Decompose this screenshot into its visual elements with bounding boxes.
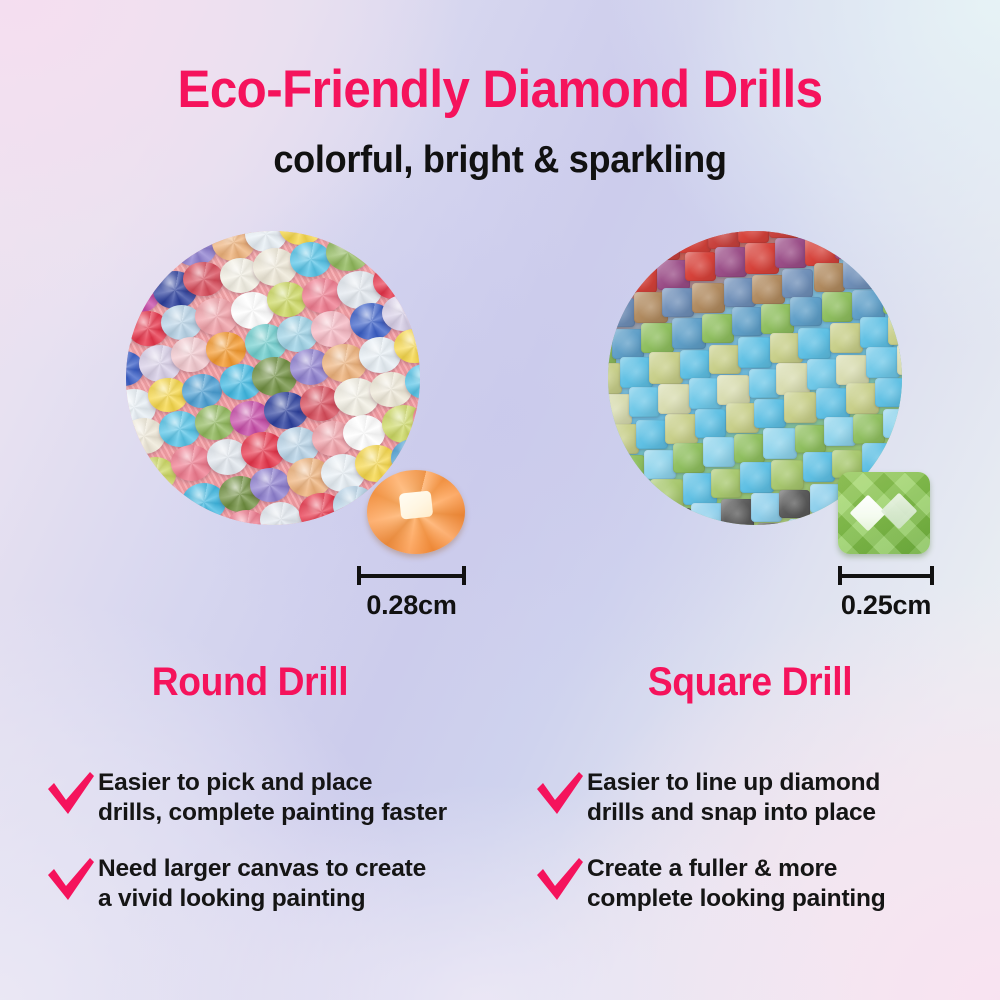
feature-line-1: Easier to line up diamond bbox=[587, 769, 880, 796]
round-drill-gem-icon bbox=[367, 470, 465, 554]
square-drill-gem bbox=[862, 443, 895, 474]
page-title: Eco-Friendly Diamond Drills bbox=[35, 62, 965, 118]
feature-text: Easier to line up diamond drills and sna… bbox=[587, 766, 995, 828]
feature-line-1: Create a fuller & more bbox=[587, 855, 837, 882]
square-drill-gem bbox=[763, 428, 797, 459]
square-drill-gem bbox=[650, 479, 684, 510]
square-drill-gem bbox=[703, 437, 735, 466]
square-drill-heading: Square Drill bbox=[518, 660, 983, 705]
square-drill-gem bbox=[673, 443, 705, 473]
feature-line-2: a vivid looking painting bbox=[98, 884, 522, 914]
round-gem-top-facet bbox=[399, 490, 434, 519]
square-drill-gem bbox=[691, 503, 725, 525]
square-drill-gem bbox=[641, 323, 674, 354]
square-drill-gem bbox=[803, 452, 835, 482]
square-drill-gem bbox=[608, 298, 635, 327]
round-drill-gem bbox=[206, 332, 246, 367]
square-drill-gem bbox=[740, 462, 774, 493]
feature-item: Easier to line up diamond drills and sna… bbox=[533, 766, 995, 828]
measure-line bbox=[838, 574, 934, 578]
square-drill-gem bbox=[798, 231, 829, 232]
square-drill-gem bbox=[665, 414, 698, 444]
square-drill-gem bbox=[752, 275, 784, 305]
round-drill-gem bbox=[195, 405, 235, 439]
square-drill-gem bbox=[784, 392, 817, 422]
round-drill-heading: Round Drill bbox=[18, 660, 483, 705]
square-drill-gem bbox=[625, 263, 657, 293]
square-drill-gem bbox=[795, 425, 826, 454]
square-drill-gem bbox=[852, 290, 885, 321]
square-drill-gem bbox=[897, 344, 902, 374]
square-drill-gem bbox=[628, 514, 662, 525]
check-icon bbox=[44, 770, 98, 818]
round-drill-gem bbox=[250, 468, 290, 503]
page-subtitle: colorful, bright & sparkling bbox=[25, 140, 975, 182]
square-drill-gem bbox=[708, 231, 740, 249]
square-drill-gem bbox=[788, 519, 820, 525]
square-drill-gem bbox=[715, 247, 747, 276]
square-drill-gem bbox=[873, 254, 902, 284]
square-drill-gem bbox=[807, 359, 840, 389]
round-drill-gem bbox=[183, 262, 223, 297]
square-drill-gem bbox=[798, 328, 831, 358]
feature-item: Easier to pick and place drills, complet… bbox=[44, 766, 522, 828]
square-drill-gem bbox=[883, 409, 902, 438]
feature-text: Easier to pick and place drills, complet… bbox=[98, 766, 522, 828]
feature-line-1: Easier to pick and place bbox=[98, 769, 372, 796]
square-drill-gem bbox=[782, 269, 813, 298]
square-drill-gem bbox=[805, 235, 839, 266]
feature-text: Create a fuller & more complete looking … bbox=[587, 852, 995, 914]
square-drill-gem bbox=[761, 304, 794, 334]
square-drill-gem bbox=[644, 450, 676, 479]
square-drill-gem bbox=[836, 355, 869, 386]
round-drill-gem bbox=[311, 311, 353, 347]
round-drill-gem bbox=[302, 278, 343, 313]
check-icon bbox=[44, 856, 98, 904]
square-measure-label: 0.25cm bbox=[836, 590, 936, 621]
square-drill-gem bbox=[853, 414, 886, 444]
square-drill-gem bbox=[875, 378, 902, 408]
round-measure-label: 0.28cm bbox=[355, 590, 468, 621]
check-icon bbox=[533, 856, 587, 904]
square-drill-gem bbox=[662, 288, 694, 317]
square-drill-feature-list: Easier to line up diamond drills and sna… bbox=[533, 766, 995, 939]
square-drill-gem-icon bbox=[838, 472, 930, 554]
square-drill-gem bbox=[822, 292, 854, 321]
measure-cap-right bbox=[462, 566, 466, 585]
round-drill-gem bbox=[135, 457, 176, 493]
square-drill-gem bbox=[702, 314, 733, 343]
square-drill-gem bbox=[620, 357, 653, 387]
infographic-poster: Eco-Friendly Diamond Drills colorful, br… bbox=[0, 0, 1000, 1000]
square-drill-gem bbox=[888, 314, 902, 345]
square-drill-gem bbox=[721, 499, 754, 525]
square-drill-gem bbox=[649, 352, 683, 383]
square-drill-gem bbox=[824, 417, 855, 446]
square-drill-gem bbox=[779, 490, 810, 519]
feature-line-1: Need larger canvas to create bbox=[98, 855, 426, 882]
square-drill-gem bbox=[711, 469, 742, 498]
square-drill-gem bbox=[757, 523, 789, 525]
square-drill-gem bbox=[738, 337, 772, 368]
square-drill-gem bbox=[680, 350, 711, 379]
square-drill-gem bbox=[717, 375, 750, 406]
round-measure-bar-icon bbox=[357, 566, 466, 584]
square-drill-gem bbox=[776, 363, 810, 394]
check-icon bbox=[533, 770, 587, 818]
square-drill-gem bbox=[814, 263, 846, 292]
square-drill-gem bbox=[612, 329, 644, 359]
square-drill-gem bbox=[771, 460, 804, 491]
square-drill-gem bbox=[891, 440, 902, 469]
square-drill-gem bbox=[775, 238, 807, 267]
feature-item: Need larger canvas to create a vivid loo… bbox=[44, 852, 522, 914]
square-drill-measurement: 0.25cm bbox=[838, 566, 936, 621]
round-drill-gem bbox=[290, 242, 331, 277]
square-drill-gem bbox=[754, 399, 786, 428]
round-drill-photo bbox=[126, 231, 420, 525]
square-drill-gem bbox=[835, 231, 868, 259]
square-drill-gem bbox=[620, 482, 653, 513]
measure-line bbox=[357, 574, 466, 578]
square-drill-gem bbox=[790, 297, 822, 326]
square-drill-gem bbox=[734, 434, 765, 463]
square-drill-gem bbox=[843, 259, 876, 289]
square-drill-gem bbox=[612, 455, 645, 485]
feature-item: Create a fuller & more complete looking … bbox=[533, 852, 995, 914]
square-drill-gem bbox=[659, 508, 692, 525]
square-drill-gem bbox=[830, 323, 863, 353]
round-drill-gem bbox=[382, 295, 420, 331]
feature-line-2: complete looking painting bbox=[587, 884, 995, 914]
round-drill-photo-content bbox=[126, 231, 420, 525]
square-drill-gem bbox=[709, 345, 741, 374]
square-drill-gem bbox=[672, 318, 706, 349]
square-drill-gem bbox=[678, 231, 711, 253]
round-drill-gem bbox=[171, 337, 211, 371]
square-measure-bar-icon bbox=[838, 566, 934, 584]
square-drill-gem bbox=[883, 284, 902, 314]
round-drill-gem bbox=[267, 282, 307, 317]
square-drill-gem bbox=[658, 384, 691, 415]
feature-line-2: drills and snap into place bbox=[587, 798, 995, 828]
square-drill-gem bbox=[732, 307, 763, 336]
feature-text: Need larger canvas to create a vivid loo… bbox=[98, 852, 522, 914]
square-drill-gem bbox=[629, 387, 661, 416]
square-drill-gem bbox=[616, 234, 648, 263]
square-drill-gem bbox=[692, 283, 725, 314]
round-drill-measurement: 0.28cm bbox=[357, 566, 468, 621]
square-drill-gem bbox=[636, 420, 668, 449]
feature-line-2: drills, complete painting faster bbox=[98, 798, 522, 828]
measure-cap-right bbox=[930, 566, 934, 585]
square-drill-gem bbox=[685, 252, 716, 281]
square-drill-gem bbox=[816, 388, 849, 418]
square-drill-gem bbox=[866, 347, 900, 378]
square-drill-gem bbox=[895, 231, 902, 250]
square-drill-gem bbox=[745, 243, 779, 274]
round-drill-feature-list: Easier to pick and place drills, complet… bbox=[44, 766, 522, 939]
round-drill-gem bbox=[171, 445, 212, 480]
square-drill-gem bbox=[608, 424, 639, 453]
square-drill-gem bbox=[738, 231, 769, 243]
round-drill-gem bbox=[146, 489, 188, 525]
square-drill-gem bbox=[751, 493, 783, 522]
square-drill-gem bbox=[695, 409, 727, 438]
square-drill-gem bbox=[646, 231, 679, 260]
